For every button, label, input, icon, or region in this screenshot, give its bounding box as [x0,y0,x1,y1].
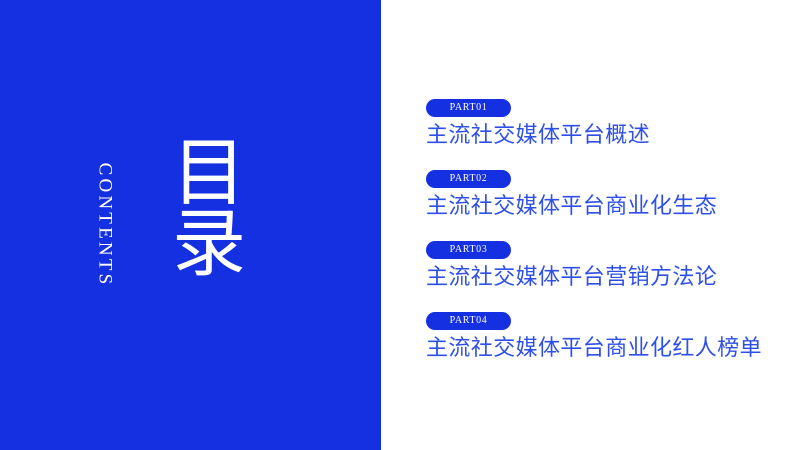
toc-entry-3[interactable]: PART03 主流社交媒体平台营销方法论 [426,239,776,310]
page-title-char-1: 目 [163,138,255,209]
left-blue-panel: CONTENTS 目 录 [0,0,381,450]
toc-entry-title-2[interactable]: 主流社交媒体平台商业化生态 [426,192,776,222]
toc-entry-title-3[interactable]: 主流社交媒体平台营销方法论 [426,263,776,293]
part-badge-1[interactable]: PART01 [426,99,511,117]
contents-vertical-label-text: CONTENTS [96,163,115,288]
page-title-mulu: 目 录 [163,138,255,280]
toc-entry-1[interactable]: PART01 主流社交媒体平台概述 [426,97,776,168]
slide-canvas: CONTENTS 目 录 PART01 主流社交媒体平台概述 PART02 主流… [0,0,800,450]
table-of-contents: PART01 主流社交媒体平台概述 PART02 主流社交媒体平台商业化生态 P… [426,97,776,381]
toc-entry-title-1[interactable]: 主流社交媒体平台概述 [426,121,776,151]
part-badge-2[interactable]: PART02 [426,170,511,188]
part-badge-3[interactable]: PART03 [426,241,511,259]
part-badge-4[interactable]: PART04 [426,312,511,330]
toc-entry-title-4[interactable]: 主流社交媒体平台商业化红人榜单 [426,334,776,364]
page-title-char-2: 录 [163,209,255,280]
toc-entry-4[interactable]: PART04 主流社交媒体平台商业化红人榜单 [426,310,776,381]
toc-entry-2[interactable]: PART02 主流社交媒体平台商业化生态 [426,168,776,239]
